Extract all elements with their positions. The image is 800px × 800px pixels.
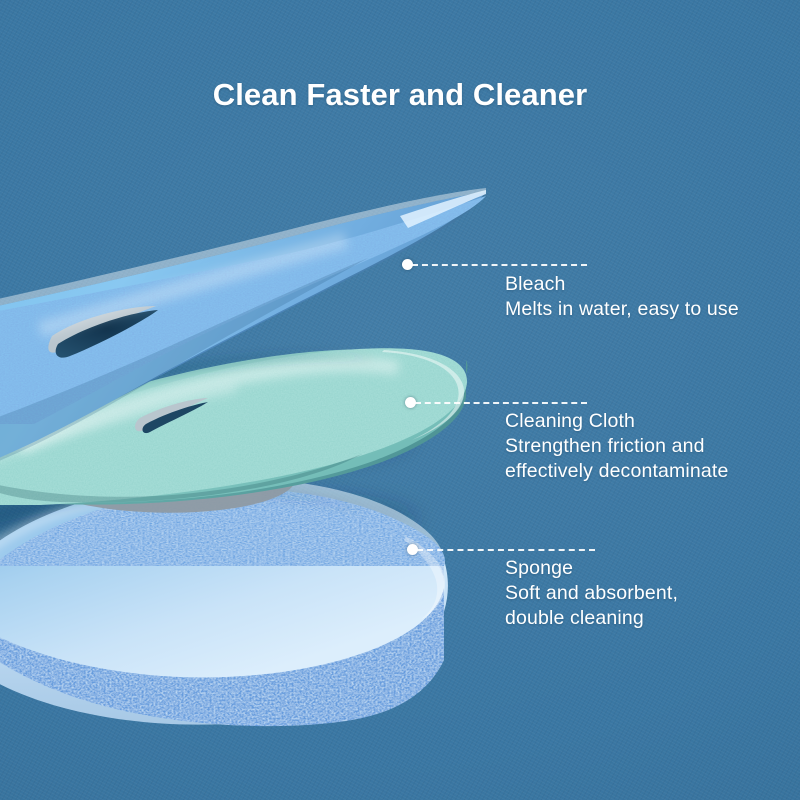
callout-desc-bleach-1: Melts in water, easy to use bbox=[505, 297, 739, 322]
callout-desc-sponge-1: Soft and absorbent, bbox=[505, 581, 678, 606]
callout-line-sponge bbox=[417, 549, 595, 551]
callout-desc-cleaning-cloth-2: effectively decontaminate bbox=[505, 459, 728, 484]
callout-title-bleach: Bleach bbox=[505, 272, 739, 297]
infographic-canvas: Clean Faster and Cleaner Bleach Melts in… bbox=[0, 0, 800, 800]
callout-line-bleach bbox=[412, 264, 587, 266]
callout-text-bleach: Bleach Melts in water, easy to use bbox=[505, 272, 739, 322]
callout-title-cleaning-cloth: Cleaning Cloth bbox=[505, 409, 728, 434]
callout-line-cleaning-cloth bbox=[415, 402, 587, 404]
callout-title-sponge: Sponge bbox=[505, 556, 678, 581]
product-illustration bbox=[0, 0, 800, 800]
callout-text-cleaning-cloth: Cleaning Cloth Strengthen friction and e… bbox=[505, 409, 728, 484]
callout-text-sponge: Sponge Soft and absorbent, double cleani… bbox=[505, 556, 678, 631]
callout-desc-cleaning-cloth-1: Strengthen friction and bbox=[505, 434, 728, 459]
callout-desc-sponge-2: double cleaning bbox=[505, 606, 678, 631]
page-title: Clean Faster and Cleaner bbox=[0, 77, 800, 113]
